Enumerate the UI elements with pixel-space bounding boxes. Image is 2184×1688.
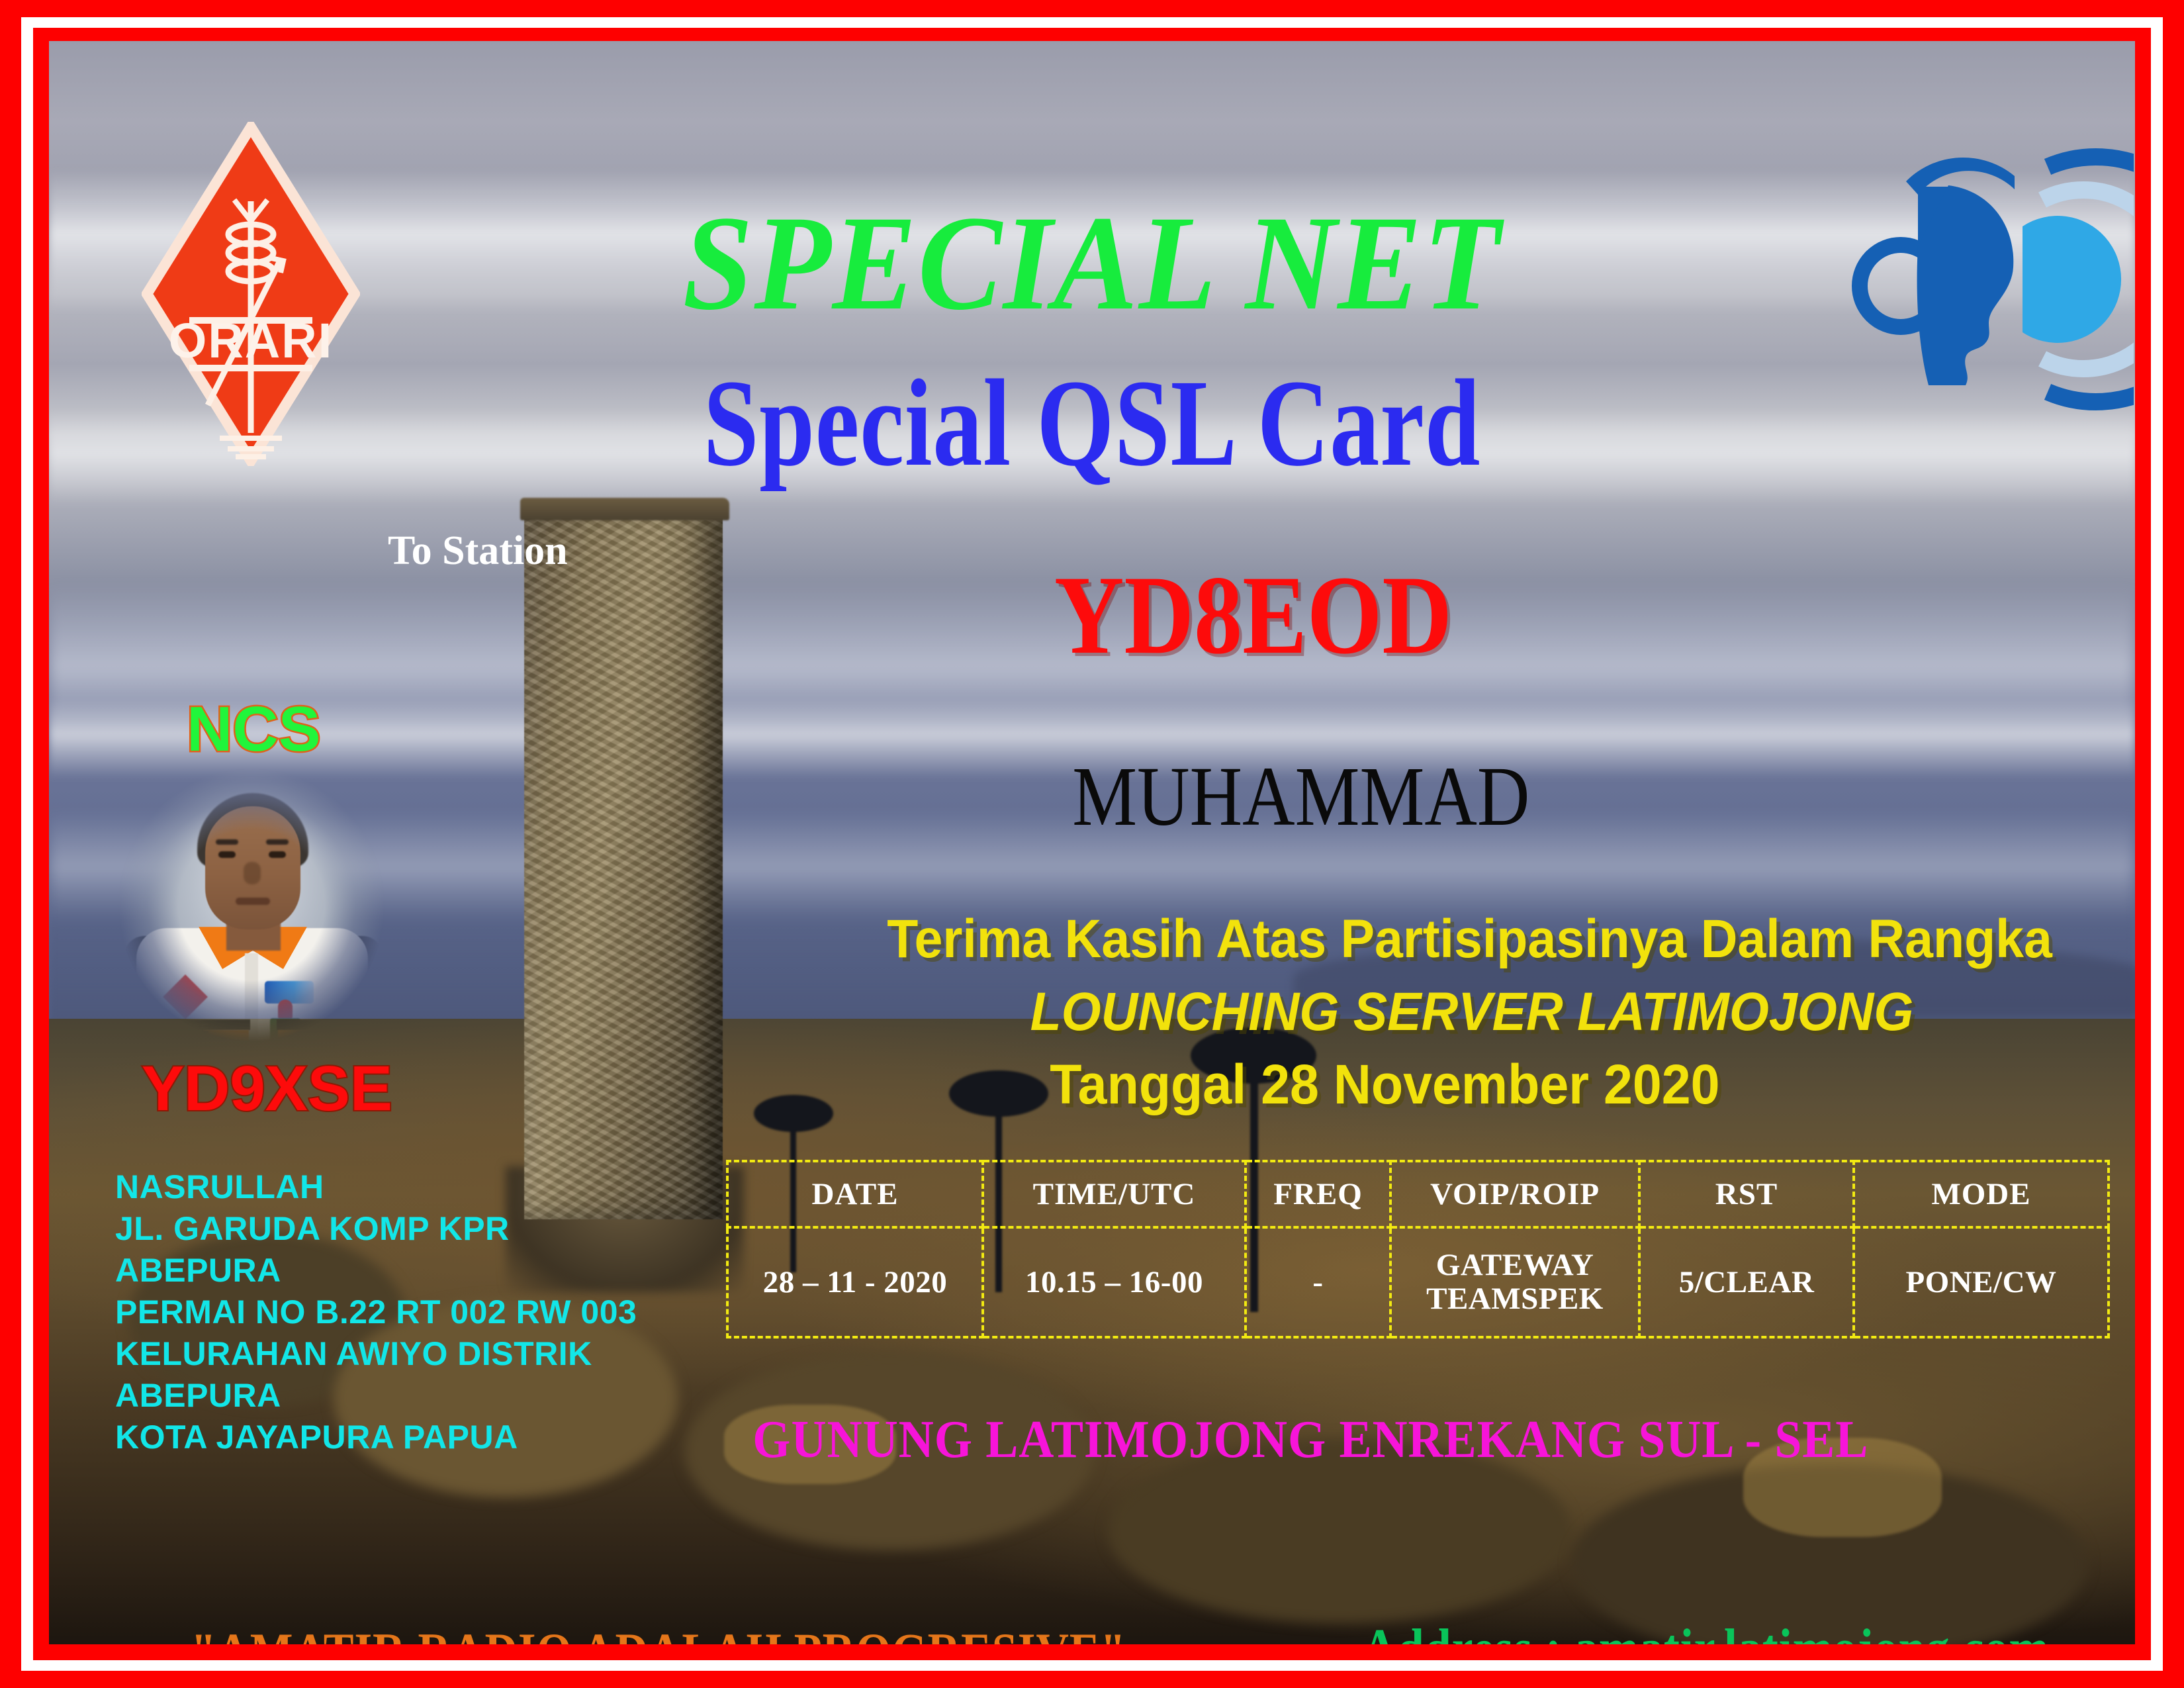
stone-pillar-cap — [520, 498, 729, 520]
qsl-card: ORARI NCS — [0, 0, 2184, 1688]
column-header-voip-roip: VOIP/ROIP — [1390, 1161, 1639, 1227]
column-header-time-utc: TIME/UTC — [983, 1161, 1246, 1227]
cell-mode: PONE/CW — [1854, 1227, 2109, 1337]
column-header-mode: MODE — [1854, 1161, 2109, 1227]
ncs-label: NCS — [187, 693, 321, 766]
table-header-row: DATE TIME/UTC FREQ VOIP/ROIP RST MODE — [727, 1161, 2109, 1227]
thanks-line: Terima Kasih Atas Partisipasinya Dalam R… — [887, 908, 2052, 970]
column-header-rst: RST — [1639, 1161, 1854, 1227]
column-header-date: DATE — [727, 1161, 983, 1227]
event-date-line: Tanggal 28 November 2020 — [1050, 1053, 1719, 1117]
qso-log-table: DATE TIME/UTC FREQ VOIP/ROIP RST MODE 28… — [726, 1160, 2110, 1338]
cell-date: 28 – 11 - 2020 — [727, 1227, 983, 1337]
address-line: NASRULLAH — [115, 1166, 637, 1208]
website-address: Address : amatir.latimojong.com — [1362, 1617, 2049, 1644]
cell-time: 10.15 – 16-00 — [983, 1227, 1246, 1337]
column-header-freq: FREQ — [1246, 1161, 1390, 1227]
station-address-block: NASRULLAH JL. GARUDA KOMP KPR ABEPURA PE… — [115, 1166, 637, 1458]
stone-pillar-monument — [524, 504, 723, 1219]
ncs-portrait-photo: YD9XSE — [113, 763, 390, 1047]
location-line: GUNUNG LATIMOJONG ENREKANG SUL - SEL — [752, 1410, 1868, 1470]
operator-name: MUHAMMAD — [1072, 748, 1529, 845]
address-line: ABEPURA — [115, 1375, 637, 1417]
page-title-special-net: SPECIAL NET — [122, 185, 2062, 342]
cell-rst: 5/CLEAR — [1639, 1227, 1854, 1337]
table-row: 28 – 11 - 2020 10.15 – 16-00 - GATEWAY T… — [727, 1227, 2109, 1337]
cell-freq: - — [1246, 1227, 1390, 1337]
ncs-callsign: YD9XSE — [142, 1053, 392, 1125]
page-subtitle-special-qsl-card: Special QSL Card — [257, 351, 1927, 494]
cell-voip-line-2: TEAMSPEK — [1392, 1282, 1638, 1316]
cell-voip-roip: GATEWAY TEAMSPEK — [1390, 1227, 1639, 1337]
tree-silhouette — [754, 1095, 833, 1132]
portrait-shirt-callsign: YD9XSE — [156, 1022, 210, 1037]
motto-text: "AMATIR RADIO ADALAH PROGRESIVE" — [191, 1622, 1126, 1644]
address-line: ABEPURA — [115, 1250, 637, 1291]
address-line: KOTA JAYAPURA PAPUA — [115, 1417, 637, 1458]
card-background-photo: ORARI NCS — [49, 41, 2135, 1644]
event-line: LOUNCHING SERVER LATIMOJONG — [1030, 981, 1914, 1043]
station-callsign: YD8EOD — [1054, 551, 1452, 680]
tree-silhouette — [949, 1070, 1048, 1117]
address-line: JL. GARUDA KOMP KPR — [115, 1208, 637, 1250]
cell-voip-line-1: GATEWAY — [1392, 1248, 1638, 1282]
address-line: PERMAI NO B.22 RT 002 RW 003 — [115, 1291, 637, 1333]
address-line: KELURAHAN AWIYO DISTRIK — [115, 1333, 637, 1375]
to-station-label: To Station — [388, 528, 568, 575]
